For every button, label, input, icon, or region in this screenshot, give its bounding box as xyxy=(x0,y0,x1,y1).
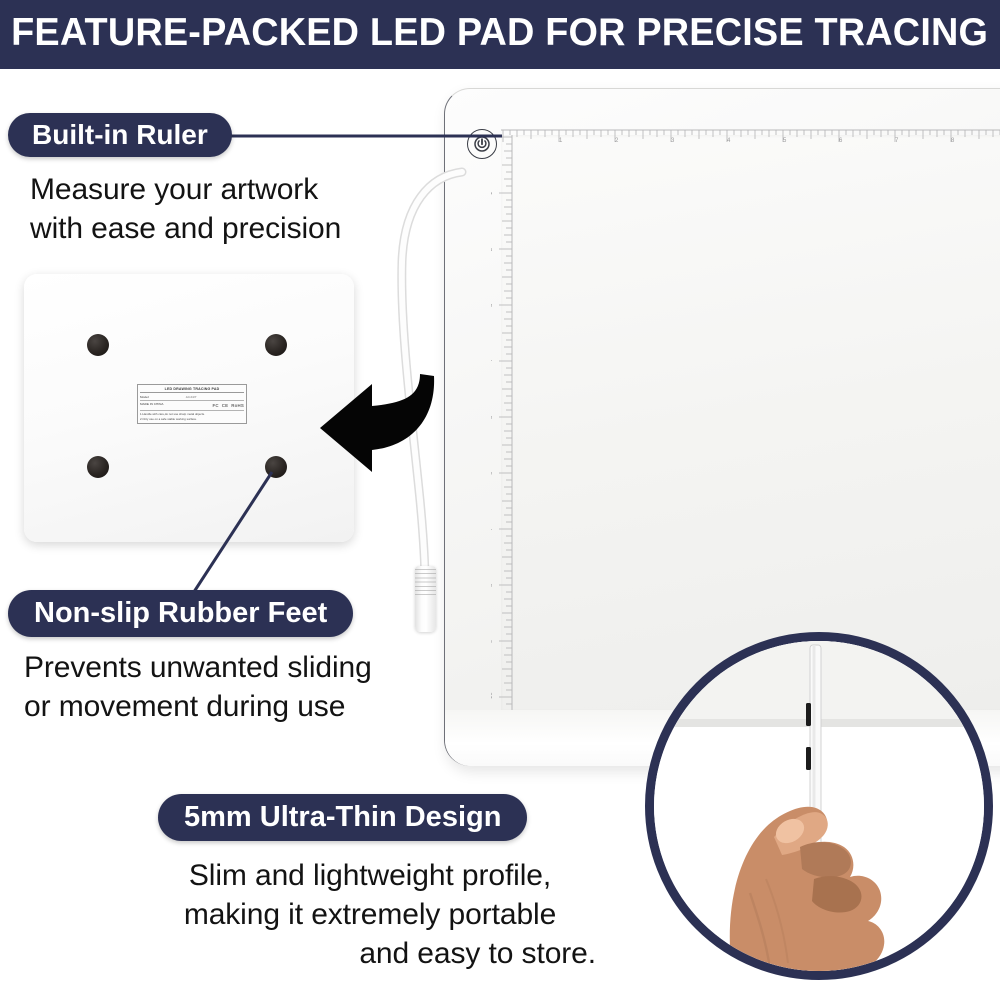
page-title: FEATURE-PACKED LED PAD FOR PRECISE TRACI… xyxy=(11,11,988,55)
callout-badge-non-slip-rubber-feet[interactable]: Non-slip Rubber Feet xyxy=(8,590,353,637)
spec-warning-3: 3.Store in a dry place when not in use. xyxy=(140,422,244,424)
svg-text:5: 5 xyxy=(783,138,787,144)
hand-holding-pad-edge-illustration xyxy=(654,641,984,971)
svg-text:1: 1 xyxy=(559,138,563,144)
callout-description-non-slip-rubber-feet: Prevents unwanted sliding or movement du… xyxy=(24,648,454,726)
rubber-foot xyxy=(265,456,287,478)
callout-badge-label: Non-slip Rubber Feet xyxy=(34,597,327,630)
spec-label-row: MADE IN CHINA FC CE RoHS xyxy=(140,401,244,411)
callout-badge-label: Built-in Ruler xyxy=(32,119,208,151)
svg-text:3: 3 xyxy=(671,138,675,144)
svg-text:8: 8 xyxy=(951,138,955,144)
callout-description-ultra-thin-design: Slim and lightweight profile, making it … xyxy=(130,856,610,973)
callout-badge-label: 5mm Ultra-Thin Design xyxy=(184,801,501,834)
ruler-top-edge: 12 34 56 78 9 xyxy=(501,129,1000,151)
callout-description-built-in-ruler: Measure your artwork with ease and preci… xyxy=(30,170,410,248)
rubber-foot xyxy=(265,334,287,356)
callout-badge-built-in-ruler[interactable]: Built-in Ruler xyxy=(8,113,232,157)
svg-text:7: 7 xyxy=(895,138,899,144)
infographic-canvas: FEATURE-PACKED LED PAD FOR PRECISE TRACI… xyxy=(0,0,1000,992)
plug-strain-relief xyxy=(415,569,436,595)
rubber-foot xyxy=(87,456,109,478)
svg-text:6: 6 xyxy=(839,138,843,144)
certification-marks: FC CE RoHS xyxy=(186,402,244,410)
svg-text:10: 10 xyxy=(491,692,494,699)
curved-arrow-left-icon xyxy=(316,372,438,476)
product-spec-label: LED DRAWING TRACING PAD Model: A4 24/7 M… xyxy=(137,384,247,424)
usb-plug-connector xyxy=(415,566,436,632)
led-pad-back-panel: LED DRAWING TRACING PAD Model: A4 24/7 M… xyxy=(24,274,354,542)
spec-label-title: LED DRAWING TRACING PAD xyxy=(140,387,244,394)
rubber-foot xyxy=(87,334,109,356)
svg-text:2: 2 xyxy=(615,138,619,144)
inset-thinness-demo xyxy=(645,632,993,980)
callout-badge-ultra-thin-design[interactable]: 5mm Ultra-Thin Design xyxy=(158,794,527,841)
led-pad-light-surface xyxy=(501,135,1000,710)
banner-underline xyxy=(0,66,1000,69)
svg-text:4: 4 xyxy=(727,138,731,144)
header-banner: FEATURE-PACKED LED PAD FOR PRECISE TRACI… xyxy=(0,0,1000,66)
